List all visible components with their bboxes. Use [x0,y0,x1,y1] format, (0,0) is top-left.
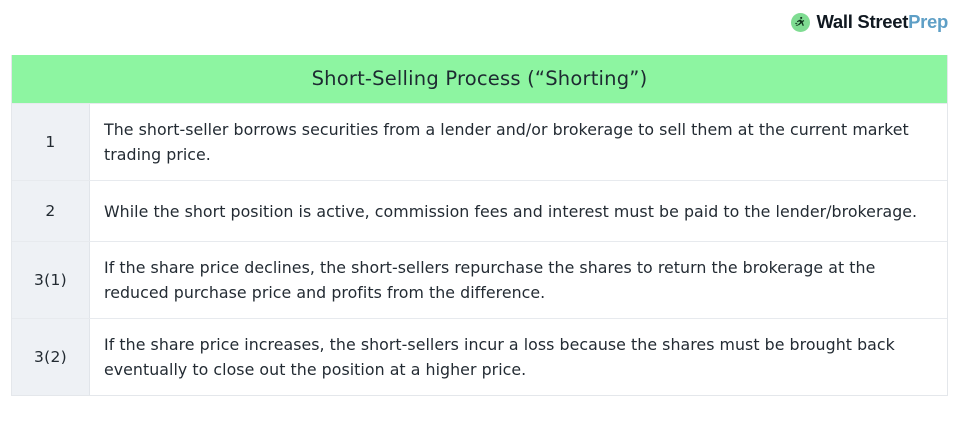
brand-logo: Wall StreetPrep [791,9,948,35]
brand-name-primary: Wall Street [816,11,908,32]
step-description: If the share price increases, the short-… [90,319,947,395]
step-description: While the short position is active, comm… [90,181,947,241]
table-row: 2 While the short position is active, co… [12,180,947,241]
step-description: If the share price declines, the short-s… [90,242,947,318]
step-number: 1 [12,104,90,180]
table-title: Short-Selling Process (“Shorting”) [12,55,947,103]
page-root: Wall StreetPrep Short-Selling Process (“… [0,0,960,425]
brand-wordmark: Wall StreetPrep [816,13,948,32]
table-row: 3(1) If the share price declines, the sh… [12,241,947,318]
runner-in-circle-icon [791,13,810,32]
table-row: 1 The short-seller borrows securities fr… [12,103,947,180]
brand-name-secondary: Prep [908,11,948,32]
short-selling-process-table: Short-Selling Process (“Shorting”) 1 The… [11,55,948,396]
step-number: 2 [12,181,90,241]
table-row: 3(2) If the share price increases, the s… [12,318,947,395]
step-number: 3(2) [12,319,90,395]
step-description: The short-seller borrows securities from… [90,104,947,180]
step-number: 3(1) [12,242,90,318]
